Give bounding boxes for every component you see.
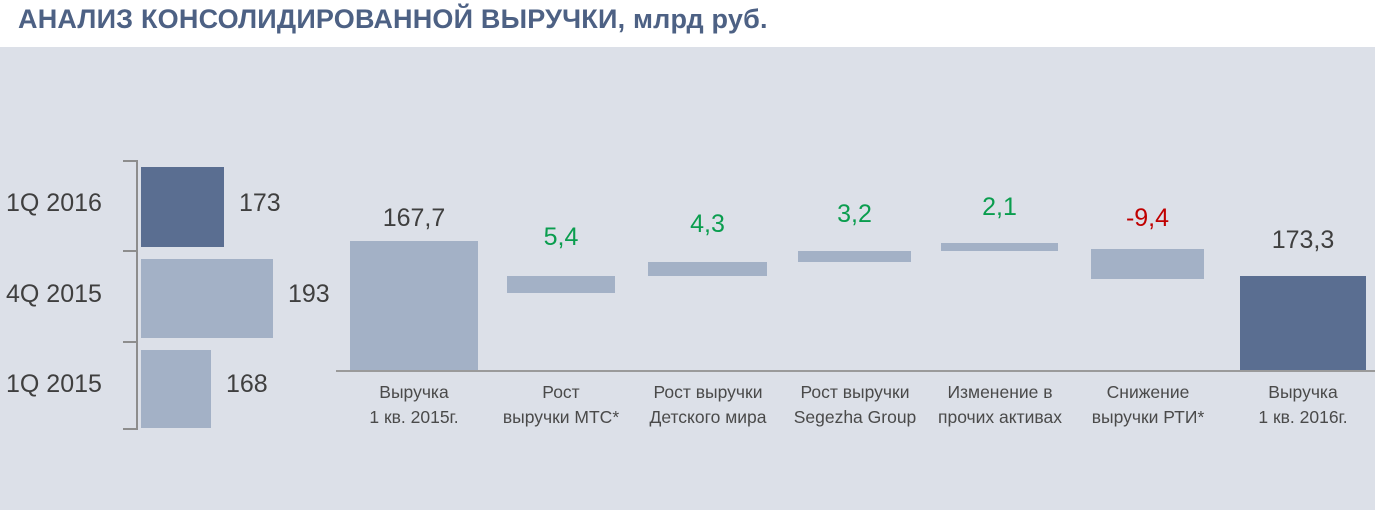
mini-category-1q-2015: 1Q 2015: [6, 370, 102, 399]
waterfall-category-mts-growth: Рост выручки МТС*: [489, 380, 633, 430]
quarterly-revenue-mini-chart: 1Q 2016 173 4Q 2015 193 1Q 2015 168: [0, 47, 336, 427]
waterfall-category-line-2: 1 кв. 2016г.: [1231, 405, 1375, 430]
mini-bar-4q-2015: [141, 259, 273, 338]
waterfall-category-line-2: выручки МТС*: [489, 405, 633, 430]
waterfall-category-other-assets-change: Изменение в прочих активах: [928, 380, 1072, 430]
waterfall-category-revenue-1q-2016: Выручка 1 кв. 2016г.: [1231, 380, 1375, 430]
mini-value-1q-2015: 168: [226, 370, 268, 399]
waterfall-category-line-2: выручки РТИ*: [1076, 405, 1220, 430]
mini-chart-tick-second: [123, 250, 138, 252]
waterfall-category-line-1: Рост выручки: [783, 380, 927, 405]
waterfall-value-rti-decline: -9,4: [1091, 204, 1204, 233]
waterfall-value-revenue-1q-2016: 173,3: [1240, 226, 1366, 255]
mini-category-4q-2015: 4Q 2015: [6, 280, 102, 309]
mini-chart-tick-third: [123, 341, 138, 343]
mini-value-4q-2015: 193: [288, 280, 330, 309]
mini-value-1q-2016: 173: [239, 189, 281, 218]
waterfall-bar-detsky-mir-growth: [648, 262, 767, 276]
waterfall-value-revenue-1q-2015: 167,7: [350, 204, 478, 233]
waterfall-value-other-assets-change: 2,1: [941, 193, 1058, 222]
mini-chart-tick-bottom: [123, 428, 138, 430]
waterfall-category-line-1: Рост: [489, 380, 633, 405]
waterfall-value-detsky-mir-growth: 4,3: [648, 210, 767, 239]
waterfall-category-line-2: прочих активах: [928, 405, 1072, 430]
waterfall-category-line-1: Выручка: [1231, 380, 1375, 405]
mini-chart-tick-top: [123, 160, 138, 162]
waterfall-category-line-2: 1 кв. 2015г.: [342, 405, 486, 430]
waterfall-category-line-1: Выручка: [342, 380, 486, 405]
waterfall-category-line-1: Снижение: [1076, 380, 1220, 405]
waterfall-bar-revenue-1q-2015: [350, 241, 478, 370]
waterfall-category-revenue-1q-2015: Выручка 1 кв. 2015г.: [342, 380, 486, 430]
waterfall-value-mts-growth: 5,4: [501, 223, 621, 252]
waterfall-category-line-1: Изменение в: [928, 380, 1072, 405]
mini-bar-1q-2015: [141, 350, 211, 428]
waterfall-value-segezha-growth: 3,2: [798, 200, 911, 229]
revenue-waterfall-chart: 167,7 Выручка 1 кв. 2015г. 5,4 Рост выру…: [336, 47, 1375, 510]
chart-panel: 1Q 2016 173 4Q 2015 193 1Q 2015 168 167,…: [0, 47, 1375, 510]
waterfall-baseline: [336, 370, 1375, 372]
waterfall-bar-mts-growth: [507, 276, 615, 293]
page-title: АНАЛИЗ КОНСОЛИДИРОВАННОЙ ВЫРУЧКИ, млрд р…: [18, 4, 768, 35]
waterfall-category-line-1: Рост выручки: [636, 380, 780, 405]
waterfall-category-line-2: Детского мира: [636, 405, 780, 430]
mini-category-1q-2016: 1Q 2016: [6, 189, 102, 218]
waterfall-category-detsky-mir-growth: Рост выручки Детского мира: [636, 380, 780, 430]
waterfall-category-segezha-growth: Рост выручки Segezha Group: [783, 380, 927, 430]
waterfall-category-line-2: Segezha Group: [783, 405, 927, 430]
mini-chart-axis-line: [136, 160, 138, 430]
mini-bar-1q-2016: [141, 167, 224, 247]
waterfall-bar-other-assets-change: [941, 243, 1058, 251]
waterfall-category-rti-decline: Снижение выручки РТИ*: [1076, 380, 1220, 430]
waterfall-bar-segezha-growth: [798, 251, 911, 262]
waterfall-bar-revenue-1q-2016: [1240, 276, 1366, 370]
waterfall-bar-rti-decline: [1091, 249, 1204, 279]
